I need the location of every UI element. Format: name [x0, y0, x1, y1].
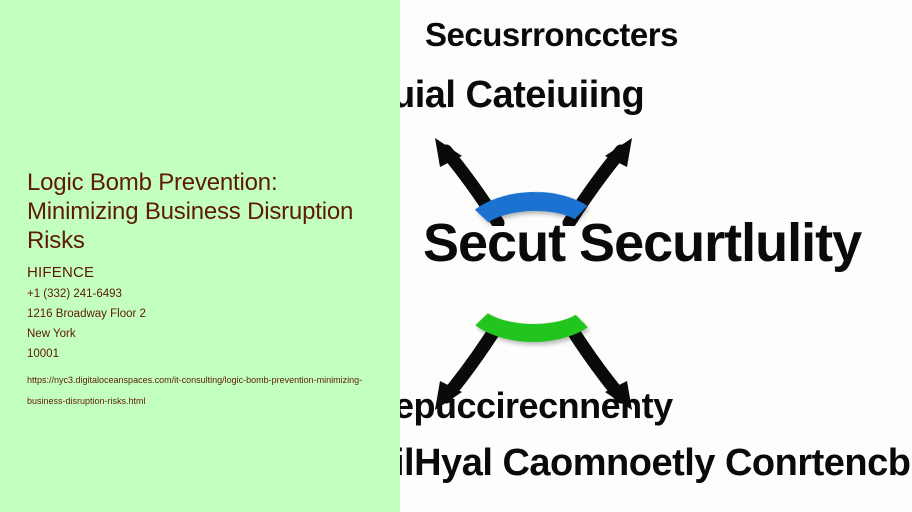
contact-phone: +1 (332) 241-6493: [27, 284, 375, 304]
left-content-block: Logic Bomb Prevention: Minimizing Busine…: [27, 168, 375, 412]
poster-heading-bottom: ilHyal Caomnoetly Conrtencb: [400, 442, 910, 485]
poster-heading-fourth: epuccirecnnenty: [400, 385, 673, 427]
thumbnail-composite: Logic Bomb Prevention: Minimizing Busine…: [0, 0, 912, 512]
poster-heading-center: Secut Securtlulity: [423, 212, 861, 274]
poster-heading-top: Secusrronccters: [425, 16, 678, 54]
right-illustration-panel: Secusrronccters uial Cateiuiing Secut Se…: [400, 0, 912, 512]
brand-name: HIFENCE: [27, 263, 375, 282]
page-title: Logic Bomb Prevention: Minimizing Busine…: [27, 168, 375, 255]
contact-postal-code: 10001: [27, 344, 375, 364]
left-info-panel: Logic Bomb Prevention: Minimizing Busine…: [0, 0, 400, 512]
contact-city: New York: [27, 324, 375, 344]
source-url[interactable]: https://nyc3.digitaloceanspaces.com/it-c…: [27, 370, 363, 412]
contact-street: 1216 Broadway Floor 2: [27, 304, 375, 324]
poster-heading-second: uial Cateiuiing: [400, 74, 644, 117]
